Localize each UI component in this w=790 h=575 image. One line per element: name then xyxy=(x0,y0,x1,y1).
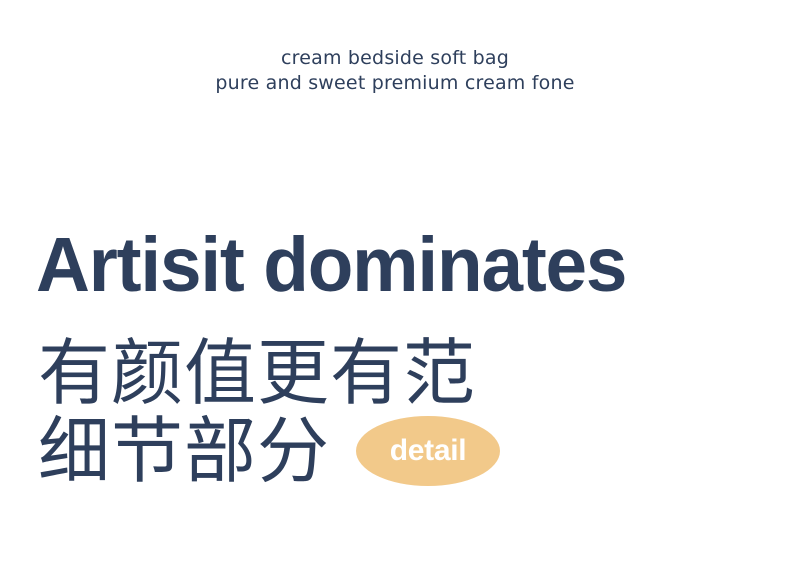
poster-canvas: cream bedside soft bag pure and sweet pr… xyxy=(0,0,790,575)
cjk-line-2-row: 细节部分 detail xyxy=(38,412,738,490)
cjk-headline-line-1: 有颜值更有范 xyxy=(38,334,738,412)
subtitle-line-1: cream bedside soft bag xyxy=(0,46,790,71)
cjk-text-block: 有颜值更有范 细节部分 detail xyxy=(38,334,738,490)
detail-badge: detail xyxy=(356,416,500,486)
subtitle-line-2: pure and sweet premium cream fone xyxy=(0,71,790,96)
detail-badge-label: detail xyxy=(390,436,467,466)
cjk-headline-line-2: 细节部分 xyxy=(38,412,330,490)
page-title: Artisit dominates xyxy=(36,222,626,308)
subtitle-block: cream bedside soft bag pure and sweet pr… xyxy=(0,46,790,96)
